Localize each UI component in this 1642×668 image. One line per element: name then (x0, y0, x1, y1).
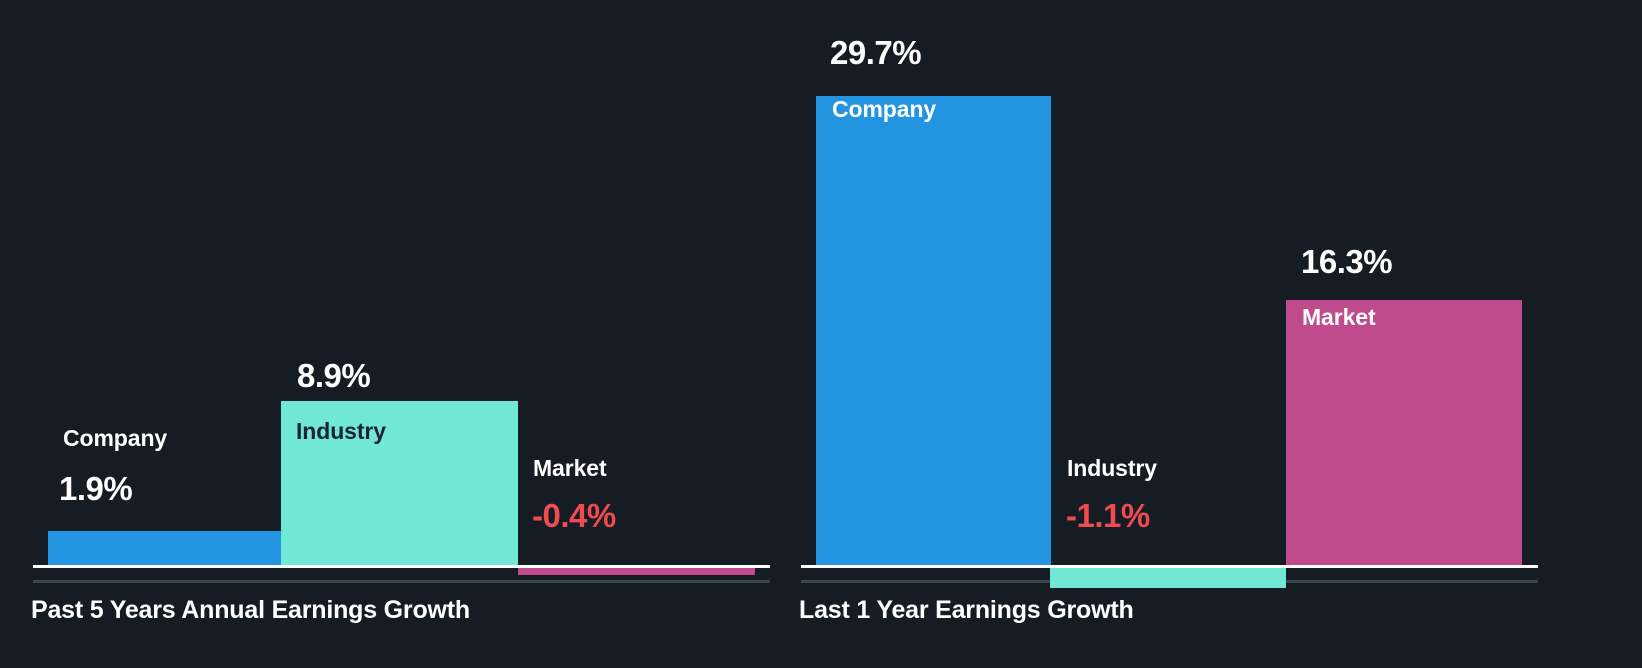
bar-industry[interactable] (1050, 565, 1286, 588)
bar-value-company: 29.7% (830, 34, 921, 72)
bar-label-market: Market (1302, 304, 1376, 331)
bar-market[interactable] (1286, 300, 1522, 565)
zero-baseline (801, 565, 1538, 568)
zero-baseline (33, 565, 770, 568)
bar-label-industry: Industry (1067, 455, 1157, 482)
chart-divider (33, 580, 770, 583)
bar-value-industry: 8.9% (297, 357, 370, 395)
chart-title-past-5-years: Past 5 Years Annual Earnings Growth (31, 596, 470, 625)
bar-value-market: 16.3% (1301, 243, 1392, 281)
chart-panel-past-5-years: Company 1.9% Industry 8.9% Market -0.4% … (0, 0, 790, 668)
bar-value-industry: -1.1% (1066, 497, 1150, 535)
bar-company[interactable] (48, 531, 281, 565)
plot-area-last-1-year: Company 29.7% Industry -1.1% Market 16.3… (790, 14, 1642, 565)
bar-value-market: -0.4% (532, 497, 616, 535)
bar-label-industry: Industry (296, 418, 386, 445)
bar-label-company: Company (832, 96, 936, 123)
chart-title-last-1-year: Last 1 Year Earnings Growth (799, 596, 1134, 625)
bar-company[interactable] (816, 96, 1051, 565)
bar-group-last-1-year: Company 29.7% Industry -1.1% Market 16.3… (790, 14, 1642, 565)
earnings-growth-comparison: Company 1.9% Industry 8.9% Market -0.4% … (0, 0, 1642, 668)
bar-value-company: 1.9% (59, 470, 132, 508)
chart-panel-last-1-year: Company 29.7% Industry -1.1% Market 16.3… (790, 0, 1642, 668)
bar-label-market: Market (533, 455, 607, 482)
bar-group-past-5-years: Company 1.9% Industry 8.9% Market -0.4% (0, 14, 790, 565)
bar-label-company: Company (63, 425, 167, 452)
plot-area-past-5-years: Company 1.9% Industry 8.9% Market -0.4% (0, 14, 790, 565)
